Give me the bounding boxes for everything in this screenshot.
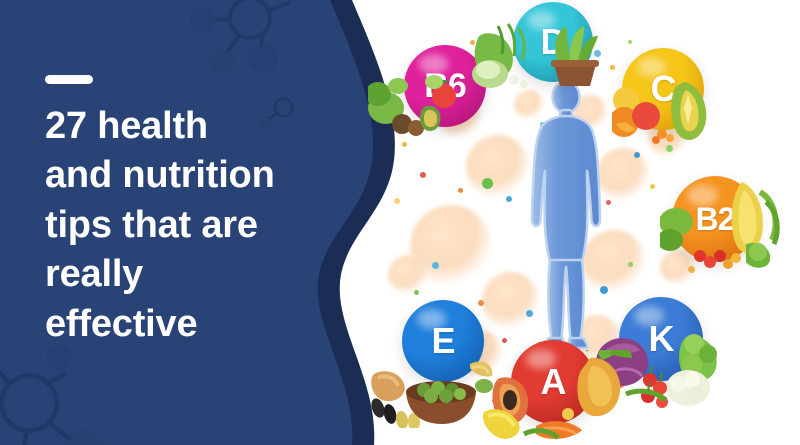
confetti-dot [594, 50, 601, 57]
confetti-dot [502, 338, 507, 343]
confetti-dot [478, 300, 484, 306]
vitamin-bubble-d[interactable]: D [513, 2, 593, 82]
confetti-dot [634, 152, 640, 158]
confetti-dot [492, 398, 497, 403]
vitamin-bubble-k[interactable]: K [619, 297, 703, 381]
confetti-dot [628, 40, 632, 44]
vitamin-label: K [649, 321, 674, 357]
vitamin-label: C [651, 71, 676, 107]
confetti-dot [458, 188, 463, 193]
soft-blob [596, 148, 650, 202]
confetti-dot [688, 266, 695, 273]
vitamin-label: A [541, 364, 566, 400]
vitamin-bubble-b6[interactable]: B6 [404, 45, 486, 127]
confetti-dot [492, 62, 498, 68]
soft-blob [466, 135, 530, 199]
vitamin-bubble-b2[interactable]: B2 [672, 176, 758, 262]
confetti-dot [628, 262, 633, 267]
dash-accent-icon [45, 75, 93, 84]
vitamin-bubble-a[interactable]: A [511, 340, 595, 424]
confetti-dot [402, 142, 407, 147]
confetti-dot [606, 200, 611, 205]
confetti-dot [666, 145, 673, 152]
confetti-dot [692, 118, 697, 123]
confetti-dot [618, 382, 624, 388]
confetti-dot [506, 196, 512, 202]
confetti-dot [394, 198, 400, 204]
nutrition-banner: 27 health and nutrition tips that are re… [0, 0, 800, 445]
vitamin-bubble-c[interactable]: C [622, 48, 704, 130]
page-title: 27 health and nutrition tips that are re… [45, 102, 365, 349]
vitamin-bubble-e[interactable]: E [402, 300, 484, 382]
confetti-dot [432, 262, 439, 269]
headline-block: 27 health and nutrition tips that are re… [45, 75, 365, 349]
confetti-dot [414, 290, 419, 295]
vitamin-label: B6 [424, 69, 465, 103]
confetti-dot [610, 65, 615, 70]
confetti-dot [470, 40, 475, 45]
soft-blob [388, 255, 428, 295]
human-body-silhouette-icon [528, 78, 604, 350]
confetti-dot [650, 184, 655, 189]
vitamin-label: D [541, 24, 566, 60]
vitamin-illustration: B6DCB2KAE [360, 0, 800, 445]
vitamin-label: E [431, 323, 454, 359]
vitamin-label: B2 [696, 203, 735, 235]
confetti-dot [420, 172, 426, 178]
confetti-dot [482, 178, 493, 189]
